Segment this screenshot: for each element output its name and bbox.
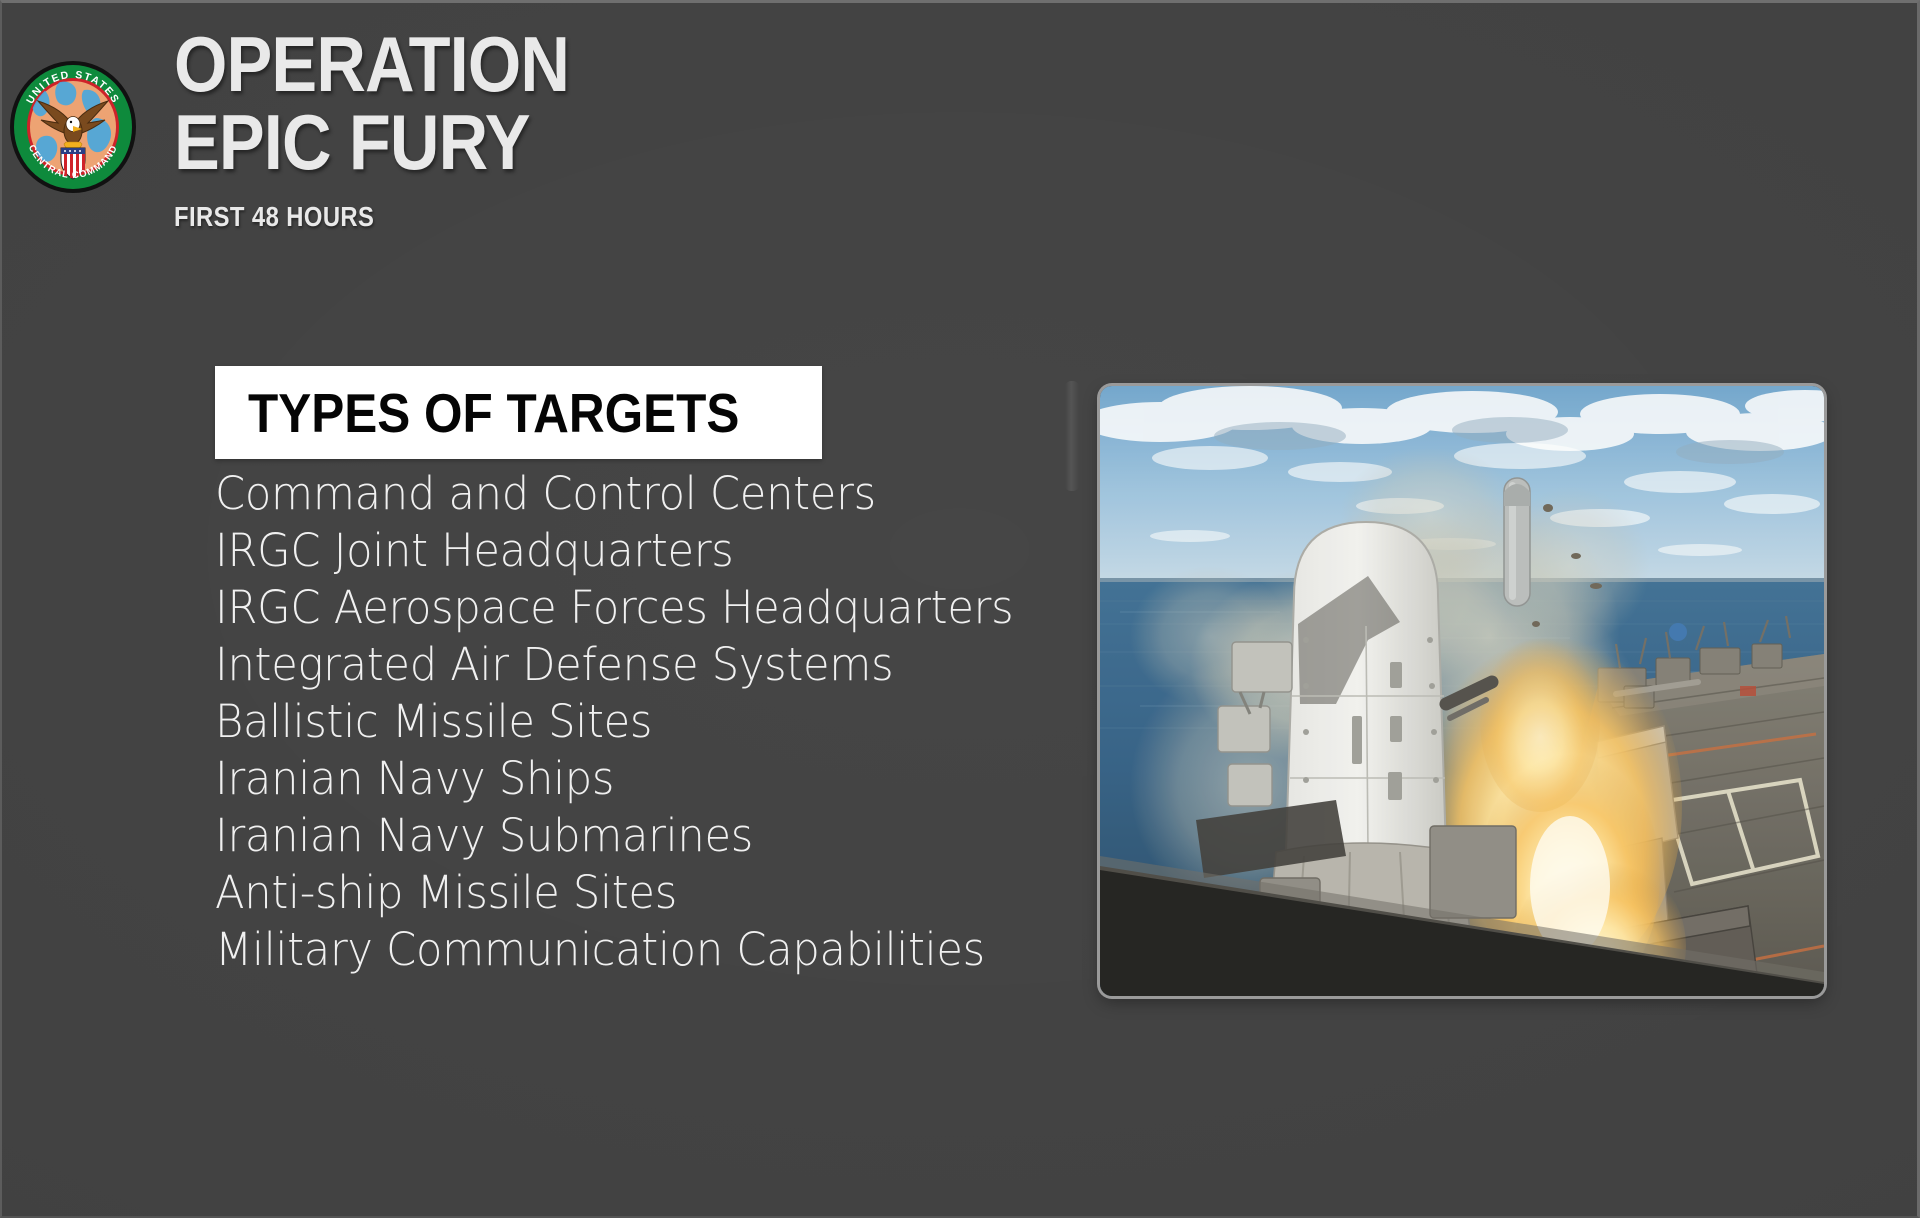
list-item: Military Communication Capabilities — [215, 921, 1013, 978]
briefing-slide: UNITED STATES CENTRAL COMMAND OPERATION … — [0, 0, 1920, 1218]
list-item: Integrated Air Defense Systems — [215, 636, 1013, 693]
operation-subtitle: FIRST 48 HOURS — [174, 201, 556, 233]
photo-edge-artifact — [1065, 381, 1079, 491]
list-item: Iranian Navy Ships — [215, 750, 1013, 807]
list-item: Iranian Navy Submarines — [215, 807, 1013, 864]
operation-title-line-1: OPERATION — [174, 29, 569, 101]
section-header-types-of-targets: TYPES OF TARGETS — [215, 366, 822, 459]
target-list: Command and Control Centers IRGC Joint H… — [215, 465, 1047, 978]
centcom-seal-icon: UNITED STATES CENTRAL COMMAND — [8, 60, 138, 194]
operation-title-line-2: EPIC FURY — [174, 107, 569, 179]
naval-missile-launch-photo — [1100, 386, 1824, 996]
list-item: Command and Control Centers — [215, 465, 1013, 522]
list-item: Anti-ship Missile Sites — [215, 864, 1013, 921]
section-header-label: TYPES OF TARGETS — [248, 381, 739, 445]
list-item: Ballistic Missile Sites — [215, 693, 1013, 750]
list-item: IRGC Aerospace Forces Headquarters — [215, 579, 1013, 636]
title-block: OPERATION EPIC FURY FIRST 48 HOURS — [174, 21, 623, 233]
list-item: IRGC Joint Headquarters — [215, 522, 1013, 579]
